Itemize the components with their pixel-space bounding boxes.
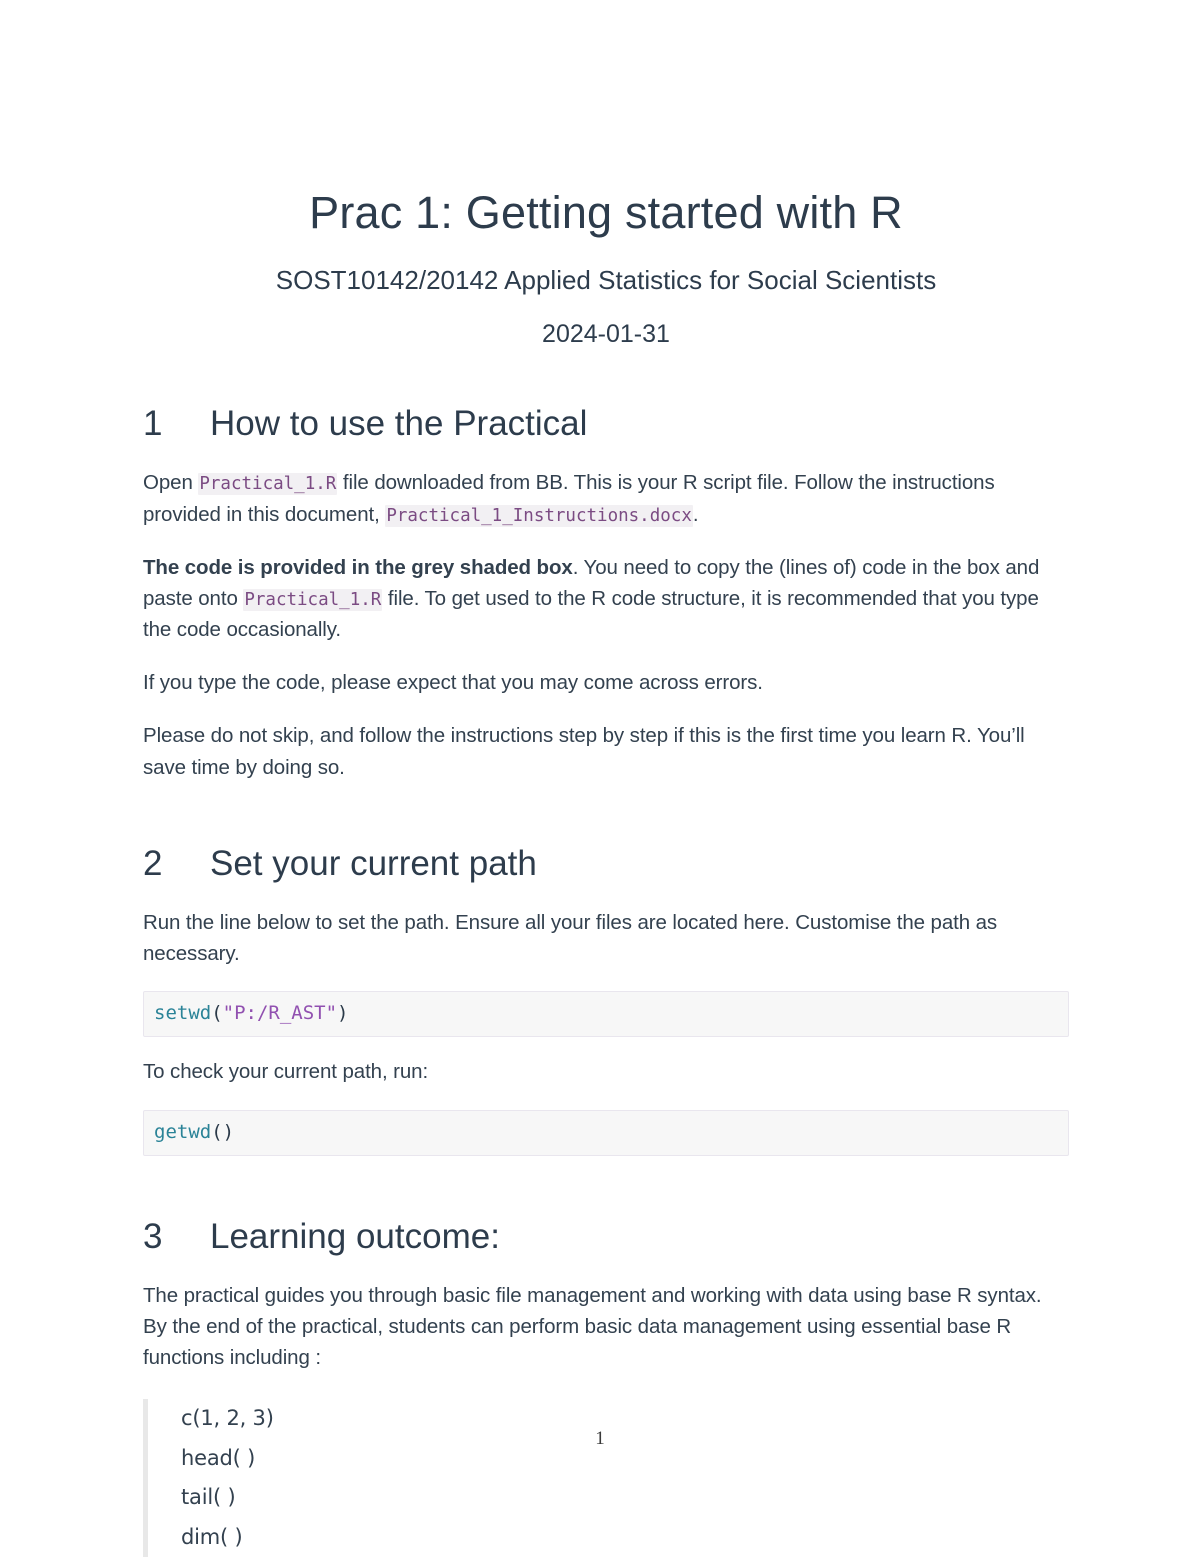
paragraph-do-not-skip: Please do not skip, and follow the instr… [143,698,1069,782]
paragraph-open-practical: Open Practical_1.R file downloaded from … [143,444,1069,529]
bold-text-grey-shaded-box: The code is provided in the grey shaded … [143,556,573,579]
list-item: tail( ) [181,1478,1069,1517]
paragraph-learning-outcome-intro: The practical guides you through basic f… [143,1257,1069,1373]
document-subtitle: SOST10142/20142 Applied Statistics for S… [143,238,1069,297]
section-heading-1: 1 How to use the Practical [143,350,1069,444]
code-function-getwd: getwd [154,1121,211,1143]
paragraph-check-current-path: To check your current path, run: [143,1037,1069,1087]
code-string-path: "P:/R_AST" [223,1002,337,1024]
code-paren-close-2: ) [223,1121,234,1143]
inline-code-practical-1-instructions-docx: Practical_1_Instructions.docx [385,505,693,527]
section-number-3: 3 [143,1216,210,1257]
section-heading-2: 2 Set your current path [143,783,1069,884]
section-title-2: Set your current path [210,843,537,884]
code-block-getwd[interactable]: getwd() [143,1110,1069,1156]
paragraph-grey-shaded-box: The code is provided in the grey shaded … [143,530,1069,645]
page-number: 1 [0,1428,1200,1450]
document-date: 2024-01-31 [143,297,1069,350]
function-list-blockquote: c(1, 2, 3) head( ) tail( ) dim( ) [143,1399,1069,1557]
code-function-setwd: setwd [154,1002,211,1024]
section-number-1: 1 [143,403,210,444]
inline-code-practical-1-r: Practical_1.R [198,473,337,495]
code-block-setwd[interactable]: setwd("P:/R_AST") [143,991,1069,1037]
document-page: Prac 1: Getting started with R SOST10142… [0,0,1200,1553]
text-fragment: Open [143,471,198,494]
code-paren-close: ) [337,1002,348,1024]
inline-code-practical-1-r-2: Practical_1.R [243,589,382,611]
section-title-1: How to use the Practical [210,403,587,444]
document-title: Prac 1: Getting started with R [143,0,1069,238]
code-paren-open: ( [211,1002,222,1024]
list-item: dim( ) [181,1518,1069,1557]
text-fragment: . [693,503,699,526]
section-number-2: 2 [143,843,210,884]
document-content: Prac 1: Getting started with R SOST10142… [143,0,1069,1557]
section-heading-3: 3 Learning outcome: [143,1156,1069,1257]
paragraph-expect-errors: If you type the code, please expect that… [143,645,1069,698]
paragraph-run-line-below: Run the line below to set the path. Ensu… [143,884,1069,969]
section-title-3: Learning outcome: [210,1216,500,1257]
code-paren-open-2: ( [211,1121,222,1143]
